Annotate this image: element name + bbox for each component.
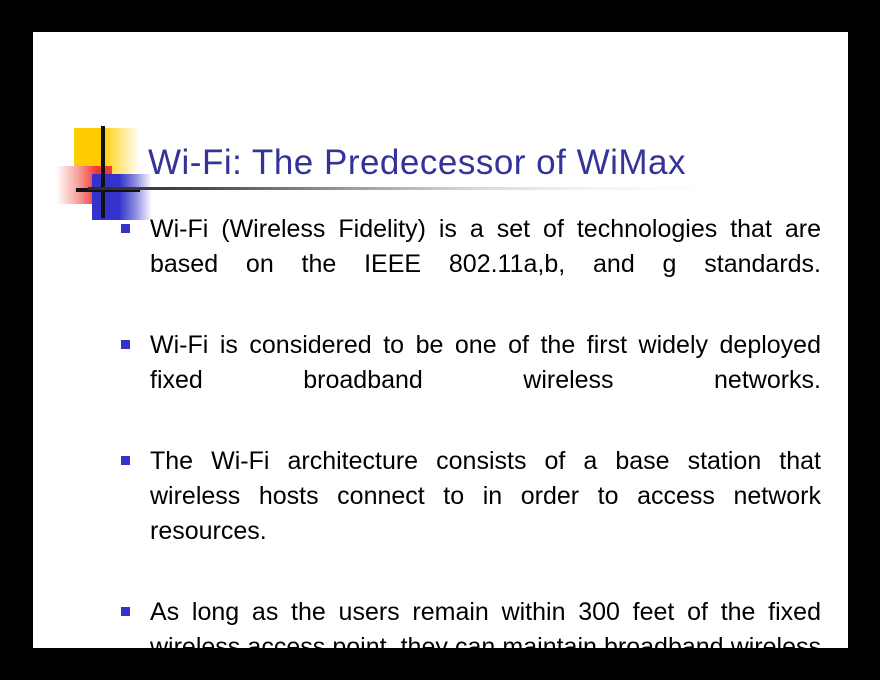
list-item: Wi-Fi is considered to be one of the fir…	[121, 328, 821, 433]
list-item: Wi-Fi (Wireless Fidelity) is a set of te…	[121, 212, 821, 317]
slide-frame: Wi-Fi: The Predecessor of WiMax Wi-Fi (W…	[0, 0, 880, 680]
list-item-text: The Wi-Fi architecture consists of a bas…	[150, 444, 821, 584]
title-divider	[88, 187, 708, 190]
list-item: The Wi-Fi architecture consists of a bas…	[121, 444, 821, 584]
square-bullet-icon	[121, 224, 130, 233]
list-item-text: Wi-Fi is considered to be one of the fir…	[150, 328, 821, 433]
bullet-list: Wi-Fi (Wireless Fidelity) is a set of te…	[121, 212, 821, 648]
list-item-text: Wi-Fi (Wireless Fidelity) is a set of te…	[150, 212, 821, 317]
slide-title: Wi-Fi: The Predecessor of WiMax	[148, 142, 838, 184]
square-bullet-icon	[121, 456, 130, 465]
list-item: As long as the users remain within 300 f…	[121, 595, 821, 648]
decorative-squares-logo	[56, 126, 152, 220]
square-bullet-icon	[121, 340, 130, 349]
slide-canvas: Wi-Fi: The Predecessor of WiMax Wi-Fi (W…	[33, 32, 848, 648]
list-item-text: As long as the users remain within 300 f…	[150, 595, 821, 648]
vertical-line-icon	[101, 126, 105, 218]
square-bullet-icon	[121, 607, 130, 616]
